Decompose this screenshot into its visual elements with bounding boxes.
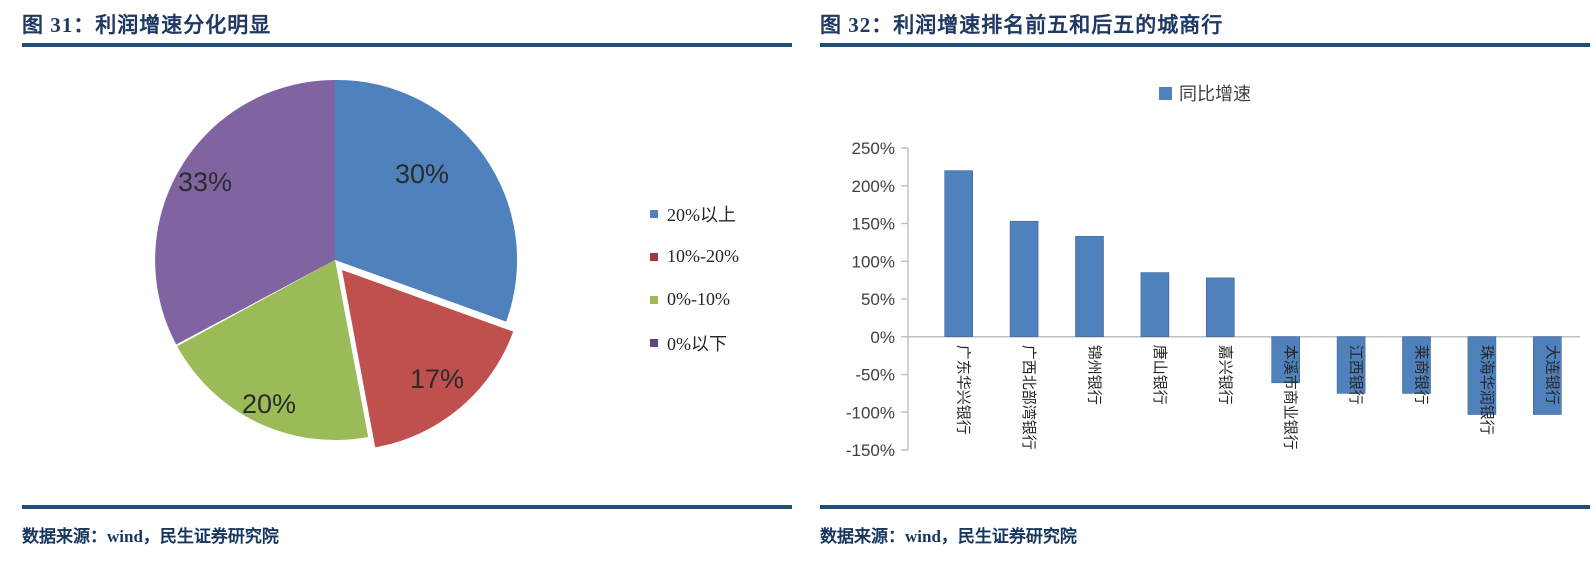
category-label-1: 广西北部湾银行 xyxy=(1020,345,1037,450)
pie-value-label-2: 20% xyxy=(242,389,296,419)
category-label-2: 锦州银行 xyxy=(1086,345,1103,405)
bar-chart-svg: 250%200%150%100%50%0%-50%-100%-150% 广东华兴… xyxy=(820,50,1590,500)
figure-31-bottom-rule xyxy=(22,505,792,509)
figure-page: 图 31：利润增速分化明显 30% 17% 20% 33% 20 xyxy=(0,0,1596,567)
pie-value-label-3: 33% xyxy=(178,167,232,197)
bar-4[interactable] xyxy=(1206,278,1234,337)
pie-legend-label-0: 20%以上 xyxy=(667,201,736,227)
pie-legend-label-2: 0%-10% xyxy=(667,289,730,310)
pie-legend-label-1: 10%-20% xyxy=(667,246,739,267)
figure-31-top-rule xyxy=(22,43,792,47)
legend-swatch-icon xyxy=(650,296,658,304)
pie-chart-svg: 30% 17% 20% 33% xyxy=(127,58,547,458)
pie-chart-area: 30% 17% 20% 33% 20%以上 10%-20% 0%-10% xyxy=(22,50,792,500)
figure-32-top-rule xyxy=(820,43,1590,47)
figure-31-title: 图 31：利润增速分化明显 xyxy=(22,0,792,37)
pie-legend-item-0[interactable]: 20%以上 xyxy=(650,192,790,235)
y-axis-ticks: 250%200%150%100%50%0%-50%-100%-150% xyxy=(846,139,908,460)
category-label-3: 唐山银行 xyxy=(1151,345,1168,405)
category-label-8: 珠海华润银行 xyxy=(1478,345,1495,435)
category-label-6: 江西银行 xyxy=(1347,345,1364,405)
y-tick-label-8: -150% xyxy=(846,441,895,460)
bar-1[interactable] xyxy=(1010,221,1038,337)
figure-32-title: 图 32：利润增速排名前五和后五的城商行 xyxy=(820,0,1590,37)
category-label-5: 本溪市商业银行 xyxy=(1282,345,1299,450)
pie-value-label-1: 17% xyxy=(410,364,464,394)
y-tick-label-7: -100% xyxy=(846,403,895,422)
pie-value-label-0: 30% xyxy=(395,159,449,189)
bar-3[interactable] xyxy=(1141,273,1169,337)
category-label-4: 嘉兴银行 xyxy=(1216,345,1233,405)
y-tick-label-4: 50% xyxy=(861,290,895,309)
y-tick-label-0: 250% xyxy=(852,139,895,158)
bar-2[interactable] xyxy=(1076,236,1104,336)
pie-legend-label-3: 0%以下 xyxy=(667,330,727,356)
figure-32-panel: 图 32：利润增速排名前五和后五的城商行 同比增速 250%200%150%10… xyxy=(820,0,1590,567)
figure-32-source: 数据来源：wind，民生证券研究院 xyxy=(820,522,1077,547)
bar-0[interactable] xyxy=(945,171,973,337)
pie-legend-item-1[interactable]: 10%-20% xyxy=(650,235,790,278)
y-tick-label-1: 200% xyxy=(852,177,895,196)
legend-swatch-icon xyxy=(650,253,658,261)
figure-31-source: 数据来源：wind，民生证券研究院 xyxy=(22,522,279,547)
category-label-9: 大连银行 xyxy=(1543,345,1560,405)
legend-swatch-icon xyxy=(650,210,658,218)
y-tick-label-5: 0% xyxy=(870,328,895,347)
category-label-0: 广东华兴银行 xyxy=(955,345,972,435)
bar-chart-area: 同比增速 250%200%150%100%50%0%-50%-100%-150%… xyxy=(820,50,1590,500)
pie-legend: 20%以上 10%-20% 0%-10% 0%以下 xyxy=(650,192,790,364)
y-tick-label-3: 100% xyxy=(852,252,895,271)
pie-legend-item-3[interactable]: 0%以下 xyxy=(650,321,790,364)
figure-31-panel: 图 31：利润增速分化明显 30% 17% 20% 33% 20 xyxy=(22,0,792,567)
category-label-7: 莱商银行 xyxy=(1413,345,1430,405)
pie-legend-item-2[interactable]: 0%-10% xyxy=(650,278,790,321)
y-tick-label-2: 150% xyxy=(852,215,895,234)
legend-swatch-icon xyxy=(650,339,658,347)
figure-32-bottom-rule xyxy=(820,505,1590,509)
y-tick-label-6: -50% xyxy=(855,366,895,385)
